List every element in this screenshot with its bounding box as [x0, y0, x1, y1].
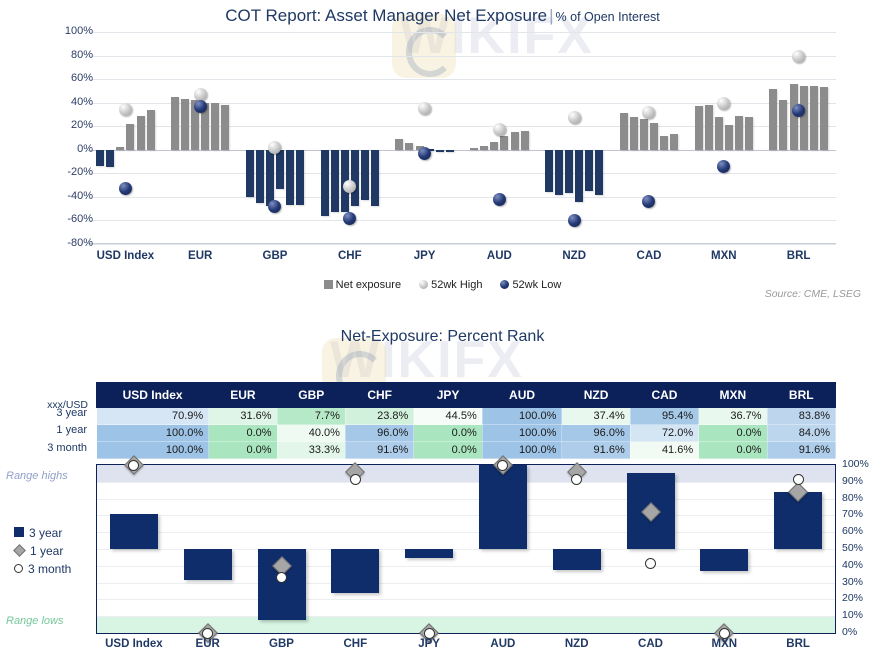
net-exposure-bar: [470, 148, 478, 150]
legend-label: 3 month: [28, 562, 71, 576]
52wk-high-marker: [343, 180, 356, 193]
y-axis-tick: 70%: [842, 508, 882, 520]
circle-silver-icon: [419, 280, 428, 289]
net-exposure-bar: [715, 117, 723, 150]
net-exposure-bar: [640, 119, 648, 150]
table-cell: 41.6%: [630, 442, 698, 459]
net-exposure-bar: [96, 150, 104, 166]
net-exposure-bar: [395, 139, 403, 150]
legend-item: 3 month: [14, 560, 71, 578]
table-row-label-3-month: 3 month: [0, 442, 92, 454]
three-month-marker: [276, 572, 287, 583]
y-axis-tick: 80%: [842, 492, 882, 504]
table-col-header-chf: CHF: [345, 383, 413, 408]
net-exposure-bar: [296, 150, 304, 205]
net-exposure-bar: [351, 150, 359, 207]
bar-group: [537, 32, 612, 244]
52wk-low-marker: [493, 193, 506, 206]
three-month-marker: [793, 474, 804, 485]
table-cell: 91.6%: [345, 442, 413, 459]
gridline: [88, 244, 836, 245]
diamond-grey-icon: [13, 544, 26, 557]
table-cell: 37.4%: [562, 408, 630, 425]
net-exposure-bar: [221, 105, 229, 150]
table-cell: 100.0%: [97, 442, 209, 459]
gridline: [97, 532, 835, 533]
net-exposure-bar: [147, 110, 155, 150]
x-axis-label-brl: BRL: [753, 638, 843, 650]
table-col-header-nzd: NZD: [562, 383, 630, 408]
percent-rank-bar: [331, 549, 379, 593]
table-cell: 0.0%: [699, 442, 767, 459]
y-axis-tick: 80%: [33, 49, 93, 61]
52wk-low-marker: [568, 214, 581, 227]
chart-title-sub: % of Open Interest: [556, 10, 660, 24]
52wk-low-marker: [268, 200, 281, 213]
52wk-high-marker: [568, 111, 581, 124]
y-axis-tick: 20%: [842, 592, 882, 604]
net-exposure-bar: [555, 150, 563, 195]
table-row: 100.0%0.0%40.0%96.0%0.0%100.0%96.0%72.0%…: [97, 425, 836, 442]
percent-rank-bar: [405, 549, 453, 558]
table-cell: 7.7%: [277, 408, 345, 425]
chart-title-separator: |: [547, 6, 555, 25]
table-cell: 100.0%: [482, 442, 562, 459]
y-axis-tick: 100%: [842, 458, 882, 470]
table-cell: 91.6%: [767, 442, 835, 459]
bar-group: [163, 32, 238, 244]
52wk-low-marker: [418, 147, 431, 160]
y-axis-tick: 10%: [842, 609, 882, 621]
52wk-low-marker: [194, 100, 207, 113]
table-cell: 72.0%: [630, 425, 698, 442]
legend-label: Net exposure: [336, 279, 401, 291]
table-cell: 0.0%: [414, 425, 482, 442]
52wk-high-marker: [792, 50, 805, 63]
net-exposure-bar: [116, 147, 124, 149]
net-exposure-bar: [137, 116, 145, 150]
table-col-header-aud: AUD: [482, 383, 562, 408]
three-month-marker: [645, 558, 656, 569]
percent-rank-bar: [479, 465, 527, 549]
bar-group: [761, 32, 836, 244]
52wk-high-marker: [493, 123, 506, 136]
net-exposure-bar: [779, 100, 787, 149]
chart-title-main: COT Report: Asset Manager Net Exposure: [225, 6, 547, 25]
net-exposure-bar: [511, 132, 519, 150]
circle-open-icon: [14, 564, 23, 573]
legend-label: 3 year: [29, 526, 62, 540]
table-col-header-brl: BRL: [767, 383, 835, 408]
percent-rank-title: Net-Exposure: Percent Rank: [0, 328, 885, 346]
net-exposure-bar: [585, 150, 593, 191]
net-exposure-bar: [695, 106, 703, 150]
table-cell: 96.0%: [562, 425, 630, 442]
net-exposure-bar: [266, 150, 274, 207]
legend-label: 52wk High: [431, 279, 482, 291]
table-cell: 84.0%: [767, 425, 835, 442]
net-exposure-bar: [371, 150, 379, 207]
net-exposure-bar: [769, 89, 777, 150]
gridline: [97, 499, 835, 500]
legend-item: 1 year: [14, 542, 71, 560]
net-exposure-bar: [321, 150, 329, 216]
range-highs-label: Range highs: [6, 470, 68, 482]
table-cell: 36.7%: [699, 408, 767, 425]
net-exposure-bar: [126, 124, 134, 150]
net-exposure-bar: [521, 131, 529, 150]
net-exposure-bar: [361, 150, 369, 201]
net-exposure-bar: [705, 105, 713, 150]
y-axis-tick: 100%: [33, 25, 93, 37]
table-cell: 44.5%: [414, 408, 482, 425]
52wk-high-marker: [642, 106, 655, 119]
table-cell: 83.8%: [767, 408, 835, 425]
y-axis-tick: 0%: [33, 143, 93, 155]
table-col-header-eur: EUR: [209, 383, 277, 408]
bar-group: [387, 32, 462, 244]
table-cell: 91.6%: [562, 442, 630, 459]
52wk-low-marker: [119, 182, 132, 195]
net-exposure-bar: [650, 123, 658, 150]
net-exposure-legend: Net exposure52wk High52wk Low: [0, 279, 885, 291]
net-exposure-plot-area: [88, 32, 836, 244]
y-axis-tick: 60%: [33, 72, 93, 84]
net-exposure-bar: [181, 99, 189, 150]
net-exposure-bar: [595, 150, 603, 195]
net-exposure-bar: [490, 142, 498, 150]
table-cell: 100.0%: [482, 425, 562, 442]
square-grey-icon: [324, 280, 333, 289]
net-exposure-bar: [256, 150, 264, 203]
net-exposure-bar: [500, 136, 508, 150]
y-axis-tick: -60%: [33, 213, 93, 225]
y-axis-tick: 50%: [842, 542, 882, 554]
three-month-marker: [202, 628, 213, 639]
percent-rank-bar: [110, 514, 158, 549]
net-exposure-bar: [211, 103, 219, 150]
bar-group: [312, 32, 387, 244]
gridline: [97, 515, 835, 516]
net-exposure-bar: [620, 113, 628, 150]
table-cell: 31.6%: [209, 408, 277, 425]
net-exposure-bar: [276, 150, 284, 189]
52wk-low-marker: [343, 212, 356, 225]
chart-title: COT Report: Asset Manager Net Exposure|%…: [0, 6, 885, 26]
net-exposure-bar: [246, 150, 254, 197]
table-cell: 33.3%: [277, 442, 345, 459]
percent-rank-legend: 3 year1 year3 month: [14, 524, 71, 578]
percent-rank-bar: [184, 549, 232, 580]
table-cell: 0.0%: [414, 442, 482, 459]
net-exposure-bar: [630, 117, 638, 150]
percent-rank-bar: [553, 549, 601, 570]
net-exposure-bar: [480, 146, 488, 150]
52wk-high-marker: [717, 97, 730, 110]
table-cell: 96.0%: [345, 425, 413, 442]
bar-group: [612, 32, 687, 244]
net-exposure-bar: [670, 134, 678, 149]
table-cell: 23.8%: [345, 408, 413, 425]
table-row: 70.9%31.6%7.7%23.8%44.5%100.0%37.4%95.4%…: [97, 408, 836, 425]
range-highs-band: [97, 465, 835, 482]
percent-rank-chart: [96, 464, 836, 634]
percent-rank-table: USD IndexEURGBPCHFJPYAUDNZDCADMXNBRL 70.…: [96, 382, 836, 459]
y-axis-tick: 0%: [842, 626, 882, 638]
table-row: 100.0%0.0%33.3%91.6%0.0%100.0%91.6%41.6%…: [97, 442, 836, 459]
net-exposure-bar: [106, 150, 114, 168]
bar-group: [88, 32, 163, 244]
three-month-marker: [719, 628, 730, 639]
net-exposure-bar: [660, 136, 668, 150]
table-cell: 100.0%: [482, 408, 562, 425]
x-axis-label-brl: BRL: [754, 250, 844, 262]
52wk-high-marker: [119, 103, 132, 116]
net-exposure-bar: [405, 143, 413, 150]
table-col-header-gbp: GBP: [277, 383, 345, 408]
legend-label: 1 year: [30, 544, 63, 558]
net-exposure-bar: [331, 150, 339, 212]
52wk-high-marker: [418, 102, 431, 115]
y-axis-tick: 40%: [842, 559, 882, 571]
net-exposure-bar: [446, 150, 454, 152]
bar-group: [462, 32, 537, 244]
net-exposure-bar: [565, 150, 573, 194]
gridline: [97, 482, 835, 483]
gridline: [97, 599, 835, 600]
net-exposure-bar: [745, 117, 753, 150]
table-col-header-cad: CAD: [630, 383, 698, 408]
table-cell: 100.0%: [97, 425, 209, 442]
table-body: 70.9%31.6%7.7%23.8%44.5%100.0%37.4%95.4%…: [97, 408, 836, 459]
legend-label: 52wk Low: [512, 279, 561, 291]
table-col-header-mxn: MXN: [699, 383, 767, 408]
table-row-label-1-year: 1 year: [0, 424, 92, 436]
table-cell: 0.0%: [209, 442, 277, 459]
net-exposure-bar: [545, 150, 553, 192]
legend-item: 52wk High: [419, 279, 482, 291]
y-axis-tick: 60%: [842, 525, 882, 537]
three-month-marker: [350, 474, 361, 485]
bar-group: [238, 32, 313, 244]
bar-group: [686, 32, 761, 244]
legend-item: 52wk Low: [500, 279, 561, 291]
table-cell: 0.0%: [699, 425, 767, 442]
52wk-high-marker: [194, 88, 207, 101]
legend-item: 3 year: [14, 524, 71, 542]
three-month-marker: [571, 474, 582, 485]
y-axis-tick: 20%: [33, 119, 93, 131]
three-month-marker: [128, 460, 139, 471]
square-navy-icon: [14, 527, 24, 537]
net-exposure-bar: [800, 86, 808, 150]
net-exposure-bar: [820, 87, 828, 149]
net-exposure-bar: [286, 150, 294, 205]
table-header-row: USD IndexEURGBPCHFJPYAUDNZDCADMXNBRL: [97, 383, 836, 408]
net-exposure-bar: [810, 86, 818, 150]
table-col-header-jpy: JPY: [414, 383, 482, 408]
net-exposure-bar: [735, 116, 743, 150]
three-month-marker: [424, 628, 435, 639]
source-note: Source: CME, LSEG: [765, 288, 861, 300]
gridline: [97, 583, 835, 584]
table-row-label-3-year: 3 year: [0, 407, 92, 419]
table-cell: 40.0%: [277, 425, 345, 442]
52wk-low-marker: [642, 195, 655, 208]
net-exposure-bar: [171, 97, 179, 150]
range-lows-label: Range lows: [6, 615, 63, 627]
net-exposure-bar: [436, 150, 444, 152]
gridline: [97, 616, 835, 617]
y-axis-tick: -40%: [33, 190, 93, 202]
y-axis-tick: 90%: [842, 475, 882, 487]
y-axis-tick: 40%: [33, 96, 93, 108]
table-cell: 0.0%: [209, 425, 277, 442]
52wk-low-marker: [717, 160, 730, 173]
y-axis-tick: -80%: [33, 237, 93, 249]
three-month-marker: [497, 460, 508, 471]
percent-rank-bar: [700, 549, 748, 571]
circle-navy-icon: [500, 280, 509, 289]
legend-item: Net exposure: [324, 279, 401, 291]
table-cell: 70.9%: [97, 408, 209, 425]
net-exposure-bar: [575, 150, 583, 202]
y-axis-tick: 30%: [842, 576, 882, 588]
table-cell: 95.4%: [630, 408, 698, 425]
net-exposure-chart: COT Report: Asset Manager Net Exposure|%…: [0, 0, 885, 310]
y-axis-tick: -20%: [33, 166, 93, 178]
table-col-header-usd-index: USD Index: [97, 383, 209, 408]
net-exposure-bar: [725, 125, 733, 150]
